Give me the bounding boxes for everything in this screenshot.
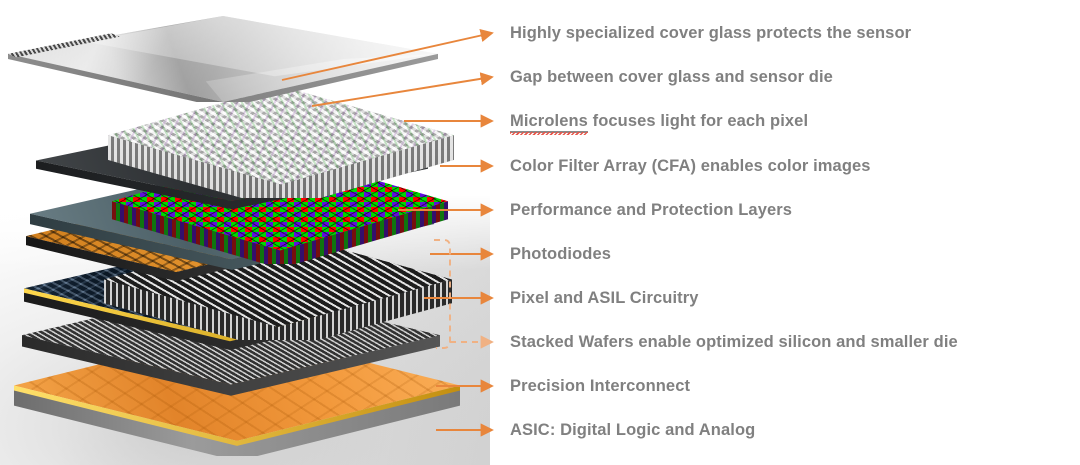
callout-label-cover-glass: Highly specialized cover glass protects …: [510, 22, 911, 44]
callout-label-interconnect: Precision Interconnect: [510, 375, 690, 397]
layer-microlens-array: [108, 86, 454, 198]
microlens-rest: focuses light for each pixel: [588, 112, 808, 130]
microlens-color-tint: [108, 86, 454, 198]
callout-label-gap: Gap between cover glass and sensor die: [510, 66, 833, 88]
callout-label-perf-layers: Performance and Protection Layers: [510, 199, 792, 221]
callout-label-stacked-wafers: Stacked Wafers enable optimized silicon …: [510, 331, 958, 353]
callout-label-photodiodes: Photodiodes: [510, 243, 611, 265]
callout-label-asic: ASIC: Digital Logic and Analog: [510, 419, 755, 441]
spellcheck-word: Microlens: [510, 112, 588, 133]
callout-label-pixel-asil: Pixel and ASIL Circuitry: [510, 287, 699, 309]
sensor-stack-illustration: [0, 0, 490, 465]
callout-label-cfa: Color Filter Array (CFA) enables color i…: [510, 155, 871, 177]
layer-cover-glass: [8, 16, 438, 102]
diagram-canvas: Highly specialized cover glass protects …: [0, 0, 1080, 465]
callout-label-microlens: Microlens focuses light for each pixel: [510, 110, 808, 132]
